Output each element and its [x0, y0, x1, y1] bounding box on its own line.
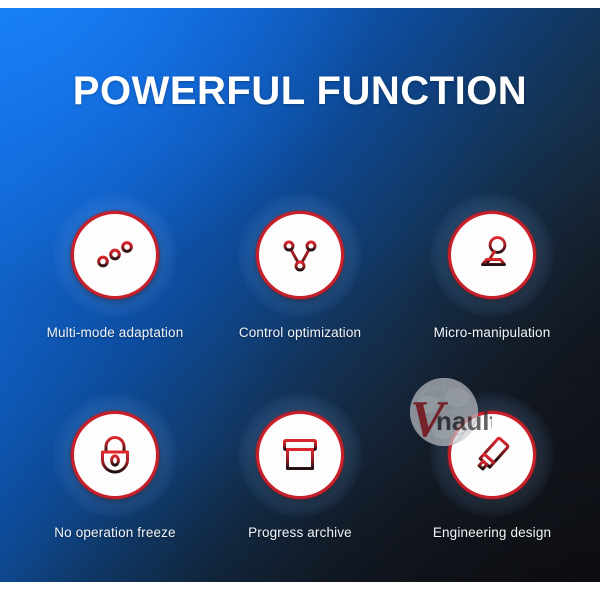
feature-label: Engineering design: [399, 524, 585, 541]
feature-item-progress-archive[interactable]: Progress archive: [207, 396, 393, 541]
poster-frame: POWERFUL FUNCTION: [0, 0, 600, 600]
badge-wrapper: [433, 396, 551, 514]
joystick-icon: [470, 233, 514, 277]
sliders-icon: [94, 234, 136, 276]
feature-item-micro-manipulation[interactable]: Micro-manipulation: [399, 196, 585, 341]
feature-item-multi-mode-adaptation[interactable]: Multi-mode adaptation: [22, 196, 208, 341]
badge-circle[interactable]: [71, 411, 159, 499]
feature-label: Micro-manipulation: [399, 324, 585, 341]
feature-label: Progress archive: [207, 524, 393, 541]
badge-wrapper: [241, 396, 359, 514]
highlighter-pen-icon: [470, 433, 514, 477]
badge-wrapper: [241, 196, 359, 314]
badge-circle[interactable]: [448, 211, 536, 299]
badge-circle[interactable]: [448, 411, 536, 499]
page-title: POWERFUL FUNCTION: [0, 68, 600, 114]
feature-item-engineering-design[interactable]: Engineering design: [399, 396, 585, 541]
badge-circle[interactable]: [71, 211, 159, 299]
badge-circle[interactable]: [256, 211, 344, 299]
badge-wrapper: [56, 396, 174, 514]
badge-wrapper: [433, 196, 551, 314]
archive-box-icon: [279, 435, 321, 475]
node-network-icon: [279, 234, 321, 276]
feature-item-control-optimization[interactable]: Control optimization: [207, 196, 393, 341]
badge-circle[interactable]: [256, 411, 344, 499]
feature-label: Multi-mode adaptation: [22, 324, 208, 341]
feature-label: No operation freeze: [22, 524, 208, 541]
feature-item-no-operation-freeze[interactable]: No operation freeze: [22, 396, 208, 541]
feature-label: Control optimization: [207, 324, 393, 341]
padlock-icon: [94, 433, 136, 477]
badge-wrapper: [56, 196, 174, 314]
